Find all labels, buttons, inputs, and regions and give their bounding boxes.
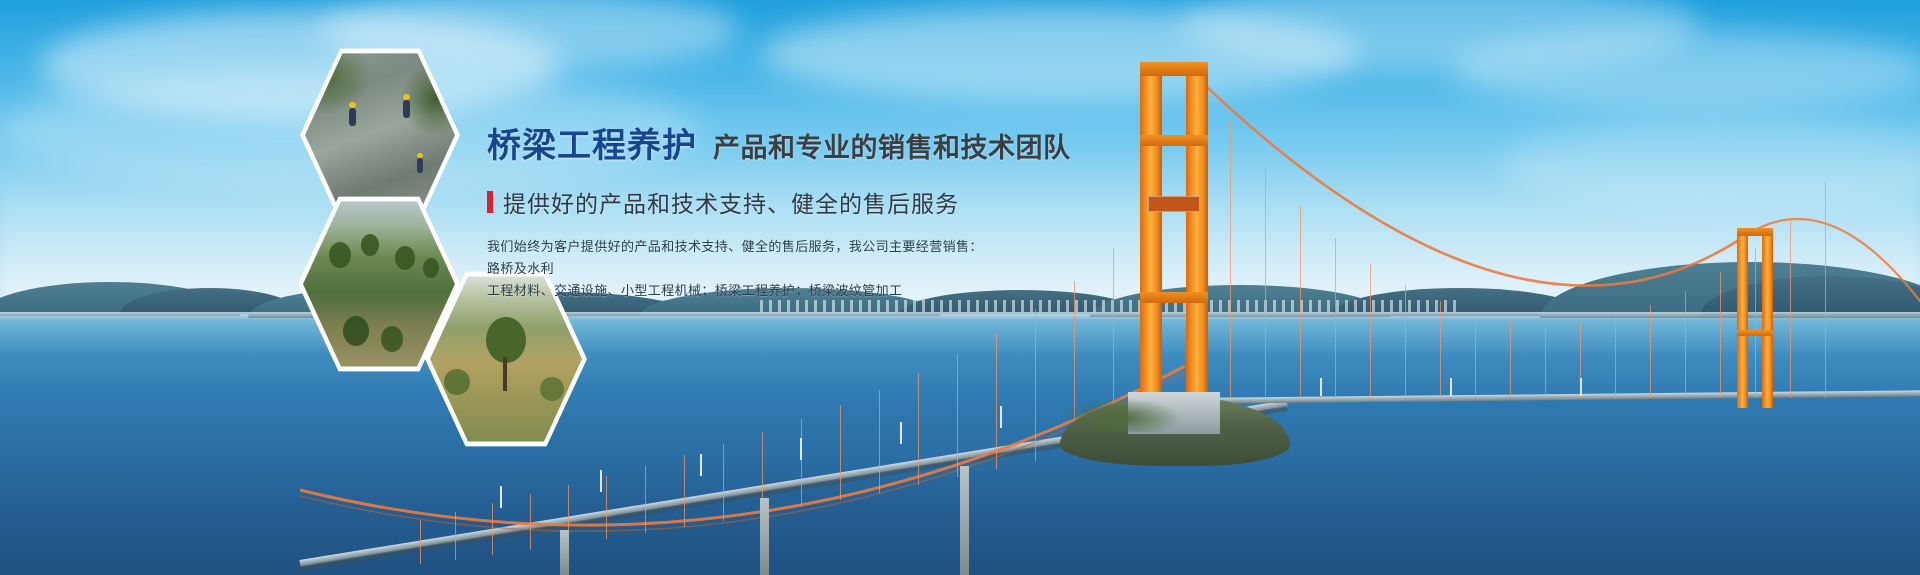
lamp-post <box>1580 378 1582 396</box>
bridge-pier <box>760 498 769 575</box>
tower-crossbeam-upper <box>1140 135 1208 146</box>
lamp-post <box>900 422 902 444</box>
bridge-pier <box>560 530 569 575</box>
hero-banner: 桥梁工程养护 产品和专业的销售和技术团队 提供好的产品和技术支持、健全的售后服务… <box>0 0 1920 575</box>
bridge-tower-main-right-leg <box>1186 62 1208 414</box>
main-cable-right <box>1185 60 1920 400</box>
accent-bar-icon <box>487 191 493 213</box>
tower-sign <box>1148 196 1200 212</box>
island-vegetation <box>1062 398 1182 432</box>
banner-title-row: 桥梁工程养护 产品和专业的销售和技术团队 <box>487 118 1047 167</box>
banner-copy: 桥梁工程养护 产品和专业的销售和技术团队 提供好的产品和技术支持、健全的售后服务… <box>487 118 1047 302</box>
main-cable-left <box>300 470 1200 575</box>
bridge-tower-far-left-leg <box>1737 228 1748 408</box>
tower-crossbeam-mid <box>1140 292 1208 303</box>
lamp-post <box>1450 378 1452 396</box>
lamp-post <box>1320 378 1322 396</box>
banner-description-line-2: 工程材料、交通设施、小型工程机械；桥梁工程养护；桥梁波纹管加工 <box>487 280 987 302</box>
lamp-post <box>800 438 802 460</box>
far-tower-crossbeam-top <box>1737 228 1773 236</box>
banner-subtitle: 提供好的产品和技术支持、健全的售后服务 <box>503 185 959 219</box>
bridge-pier <box>960 466 969 575</box>
lamp-post <box>1000 406 1002 428</box>
page-title: 桥梁工程养护 <box>487 118 697 167</box>
lamp-post <box>600 470 602 492</box>
banner-subtitle-row: 提供好的产品和技术支持、健全的售后服务 <box>487 185 1047 219</box>
lamp-post <box>500 486 502 508</box>
bridge-tower-main-left-leg <box>1140 62 1162 414</box>
banner-description: 我们始终为客户提供好的产品和技术支持、健全的售后服务，我公司主要经营销售：路桥及… <box>487 236 987 302</box>
banner-description-line-1: 我们始终为客户提供好的产品和技术支持、健全的售后服务，我公司主要经营销售：路桥及… <box>487 236 987 280</box>
page-title-secondary: 产品和专业的销售和技术团队 <box>713 126 1071 165</box>
far-tower-crossbeam-mid <box>1737 330 1773 336</box>
tower-crossbeam-top <box>1140 62 1208 76</box>
bridge-tower-far-right-leg <box>1762 228 1773 408</box>
lamp-post <box>700 454 702 476</box>
